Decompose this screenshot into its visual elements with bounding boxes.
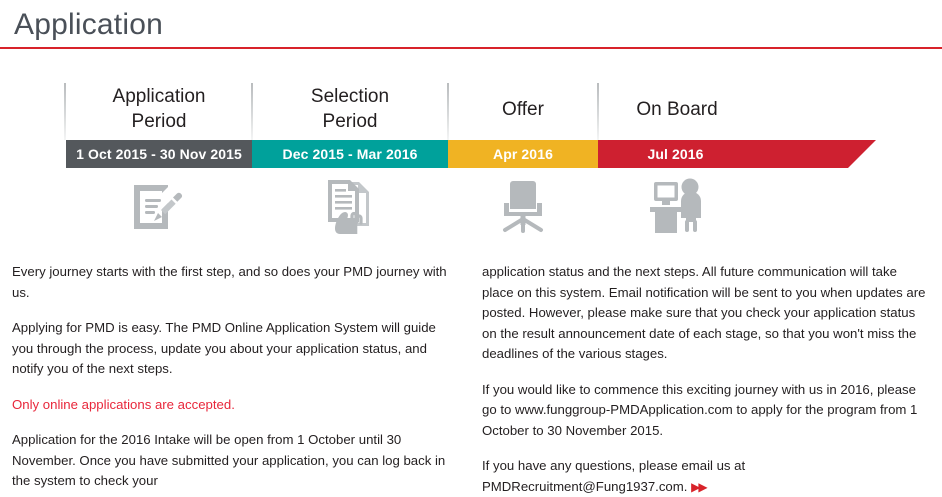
timeline-icon-cell-on-board (598, 172, 756, 238)
timeline-segment-selection-period: Dec 2015 - Mar 2016 (252, 140, 448, 168)
page-title: Application (14, 6, 163, 44)
timeline-stage-title-application-period: Application Period (66, 80, 252, 140)
timeline-date-bar: 1 Oct 2015 - 30 Nov 2015 Dec 2015 - Mar … (66, 140, 876, 168)
timeline-icon-cell-application-period (66, 172, 252, 238)
form-pencil-icon (130, 177, 188, 233)
timeline-stage-icons (66, 172, 756, 238)
application-timeline: Application Period Selection Period Offe… (66, 80, 876, 240)
timeline-icon-cell-selection-period (252, 172, 448, 238)
body-text-area: Every journey starts with the first step… (0, 262, 942, 449)
paragraph-intake-dates: Application for the 2016 Intake will be … (12, 430, 452, 492)
timeline-segment-offer: Apr 2016 (448, 140, 598, 168)
timeline-icon-cell-offer (448, 172, 598, 238)
timeline-date-offer: Apr 2016 (493, 146, 553, 162)
timeline-divider-start (64, 83, 66, 140)
paragraph-intro: Every journey starts with the first step… (12, 262, 452, 303)
timeline-segment-application-period: 1 Oct 2015 - 30 Nov 2015 (66, 140, 252, 168)
timeline-divider-2 (447, 83, 449, 140)
timeline-divider-1 (251, 83, 253, 140)
office-chair-icon (495, 176, 551, 234)
paragraph-status-communication: application status and the next steps. A… (482, 262, 930, 365)
paragraph-contact-email: If you have any questions, please email … (482, 456, 930, 497)
paragraph-apply-url: If you would like to commence this excit… (482, 380, 930, 442)
double-chevron-right-icon: ▶▶ (691, 480, 705, 494)
body-left-column: Every journey starts with the first step… (12, 262, 452, 492)
timeline-stage-title-selection-period: Selection Period (252, 80, 448, 140)
timeline-date-selection-period: Dec 2015 - Mar 2016 (283, 146, 418, 162)
timeline-date-application-period: 1 Oct 2015 - 30 Nov 2015 (76, 146, 242, 162)
contact-email-text: If you have any questions, please email … (482, 458, 745, 494)
timeline-date-on-board: Jul 2016 (598, 146, 753, 162)
page-header: Application (0, 0, 942, 49)
header-divider-rule (0, 47, 942, 49)
timeline-divider-3 (597, 83, 599, 140)
timeline-stage-title-offer: Offer (448, 80, 598, 140)
body-right-column: application status and the next steps. A… (482, 262, 930, 497)
timeline-stage-headings: Application Period Selection Period Offe… (66, 80, 756, 140)
timeline-segment-on-board: Jul 2016 (598, 140, 876, 168)
notice-online-only: Only online applications are accepted. (12, 395, 452, 416)
paragraph-applying: Applying for PMD is easy. The PMD Online… (12, 318, 452, 380)
person-desk-computer-icon (646, 177, 708, 233)
documents-hand-icon (323, 176, 377, 234)
timeline-stage-title-on-board: On Board (598, 80, 756, 140)
